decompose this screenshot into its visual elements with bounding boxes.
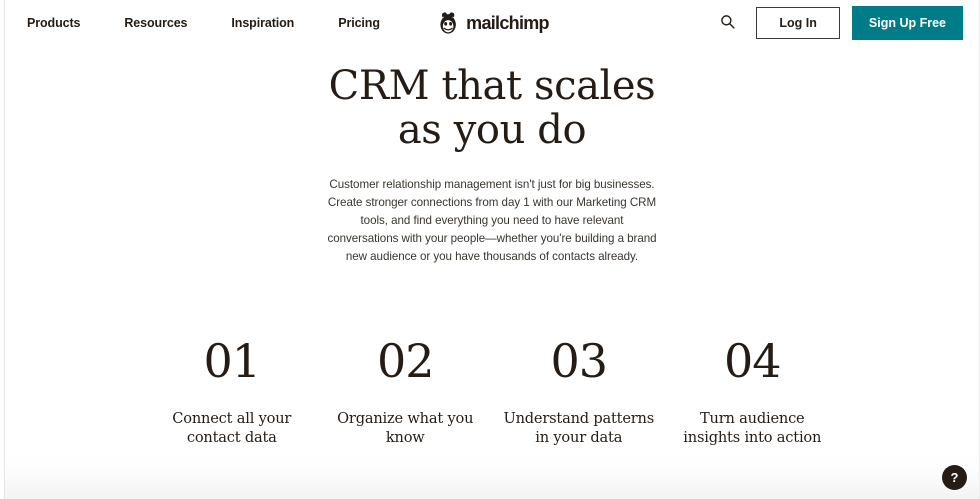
page-title: CRM that scales as you do <box>312 64 672 153</box>
help-button[interactable]: ? <box>942 465 967 490</box>
feature-title: Connect all your contact data <box>151 410 313 447</box>
main-navigation: Products Resources Inspiration Pricing <box>27 10 380 36</box>
feature-description: Set up automated messages to trigger bas… <box>672 464 834 499</box>
feature-title: Turn audience insights into action <box>672 410 834 447</box>
feature-number: 03 <box>498 338 660 384</box>
feature-description: Create your own segments and tags to fil… <box>325 464 487 499</box>
nav-item-resources[interactable]: Resources <box>124 10 187 36</box>
login-button[interactable]: Log In <box>756 7 840 40</box>
mailchimp-wordmark: mailchimp <box>466 13 549 34</box>
header-actions: Log In Sign Up Free <box>714 6 963 41</box>
feature-item-01: 01 Connect all your contact data Bring a… <box>145 338 319 499</box>
page-root: Products Resources Inspiration Pricing m… <box>5 0 979 499</box>
nav-item-pricing[interactable]: Pricing <box>338 10 380 36</box>
nav-item-inspiration[interactable]: Inspiration <box>231 10 294 36</box>
mailchimp-logo[interactable]: mailchimp <box>435 10 549 36</box>
feature-description: Get to know your audience at a glance wi… <box>498 464 660 499</box>
feature-number: 02 <box>325 338 487 384</box>
search-icon <box>720 14 735 32</box>
feature-item-02: 02 Organize what you know Create your ow… <box>319 338 493 499</box>
feature-title: Understand patterns in your data <box>498 410 660 447</box>
feature-description: Bring all your audience data into Mailch… <box>151 464 313 499</box>
mailchimp-freddie-icon <box>435 10 461 36</box>
signup-button[interactable]: Sign Up Free <box>852 6 963 41</box>
site-header: Products Resources Inspiration Pricing m… <box>5 0 979 46</box>
hero-subtitle: Customer relationship management isn't j… <box>327 176 657 266</box>
hero-section: CRM that scales as you do Customer relat… <box>5 46 979 266</box>
feature-title: Organize what you know <box>325 410 487 447</box>
search-button[interactable] <box>714 10 740 36</box>
viewport-edge-left <box>4 0 5 499</box>
feature-number: 04 <box>672 338 834 384</box>
feature-number: 01 <box>151 338 313 384</box>
feature-item-04: 04 Turn audience insights into action Se… <box>666 338 840 499</box>
features-section: 01 Connect all your contact data Bring a… <box>5 338 979 499</box>
nav-item-products[interactable]: Products <box>27 10 80 36</box>
feature-item-03: 03 Understand patterns in your data Get … <box>492 338 666 499</box>
